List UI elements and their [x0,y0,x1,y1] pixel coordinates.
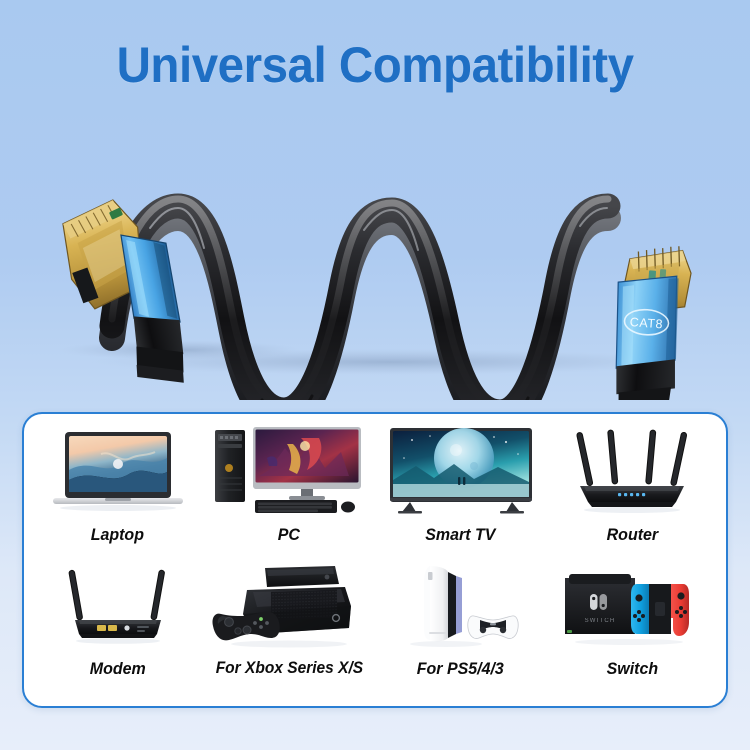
device-label-smart-tv: Smart TV [426,525,496,545]
cat8-label: CAT8 [629,315,663,331]
device-cell-playstation[interactable]: For PS5/4/3 [375,562,547,700]
device-cell-smart-tv[interactable]: Smart TV [375,424,547,562]
laptop-icon [32,424,204,516]
device-label-router: Router [607,525,658,545]
svg-text:SWITCH: SWITCH [585,618,616,624]
device-label-switch: Switch [606,659,658,679]
connector-housing-right: CAT8 [612,272,682,372]
smart-tv-icon [375,424,547,516]
device-row-1: Laptop [32,424,718,562]
xbox-console-icon [204,562,376,650]
device-label-playstation: For PS5/4/3 [417,659,504,679]
device-cell-modem[interactable]: Modem [32,562,204,700]
device-row-2: Modem [32,562,718,700]
modem-icon [32,562,204,650]
device-cell-xbox[interactable]: For Xbox Series X/S [204,562,376,700]
rj45-connector-right: CAT8 [608,242,693,400]
product-hero-image: CAT8 [0,100,750,400]
device-cell-router[interactable]: Router [547,424,719,562]
device-label-pc: PC [278,525,300,545]
device-label-modem: Modem [90,659,146,679]
compatibility-card: Laptop [22,412,728,708]
nintendo-switch-icon: SWITCH [547,562,719,650]
device-cell-switch[interactable]: SWITCH [547,562,719,700]
device-cell-pc[interactable]: PC [204,424,376,562]
playstation-console-icon [375,562,547,650]
desktop-pc-icon [204,424,376,516]
device-cell-laptop[interactable]: Laptop [32,424,204,562]
page-title: Universal Compatibility [116,36,633,94]
dualsense-controller-icon [468,616,518,639]
page-title-container: Universal Compatibility [0,36,750,94]
router-icon [547,424,719,516]
device-label-laptop: Laptop [91,525,144,545]
device-label-xbox: For Xbox Series X/S [216,659,363,678]
